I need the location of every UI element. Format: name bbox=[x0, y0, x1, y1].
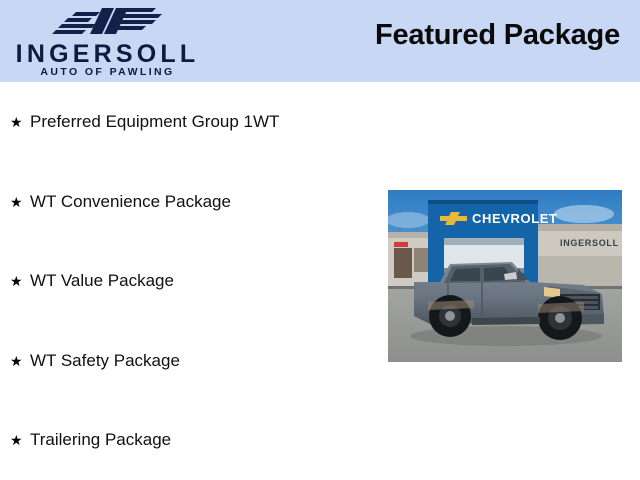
dealer-tagline: AUTO OF PAWLING bbox=[0, 66, 215, 78]
dealer-name: INGERSOLL bbox=[0, 41, 215, 67]
list-item: ★ Trailering Package bbox=[10, 428, 171, 452]
list-item: ★ WT Safety Package bbox=[10, 349, 180, 373]
svg-text:INGERSOLL: INGERSOLL bbox=[560, 238, 619, 248]
vehicle-photo: CHEVROLET INGERSOLL bbox=[388, 190, 622, 362]
star-bullet-icon: ★ bbox=[10, 274, 30, 288]
list-item-label: WT Safety Package bbox=[30, 351, 180, 371]
list-item: ★ WT Convenience Package bbox=[10, 190, 231, 214]
star-bullet-icon: ★ bbox=[10, 354, 30, 368]
list-item-label: Trailering Package bbox=[30, 430, 171, 450]
ingersoll-winged-emblem-icon bbox=[52, 4, 162, 38]
list-item-label: Preferred Equipment Group 1WT bbox=[30, 112, 279, 132]
page-title: Featured Package bbox=[375, 19, 620, 52]
star-bullet-icon: ★ bbox=[10, 433, 30, 447]
list-item: ★ Preferred Equipment Group 1WT bbox=[10, 110, 279, 134]
svg-text:CHEVROLET: CHEVROLET bbox=[472, 211, 558, 226]
star-bullet-icon: ★ bbox=[10, 195, 30, 209]
list-item-label: WT Value Package bbox=[30, 271, 174, 291]
list-item: ★ WT Value Package bbox=[10, 269, 174, 293]
list-item-label: WT Convenience Package bbox=[30, 192, 231, 212]
dealer-logo: INGERSOLL AUTO OF PAWLING bbox=[0, 0, 215, 82]
star-bullet-icon: ★ bbox=[10, 115, 30, 129]
page-header: INGERSOLL AUTO OF PAWLING Featured Packa… bbox=[0, 0, 640, 82]
